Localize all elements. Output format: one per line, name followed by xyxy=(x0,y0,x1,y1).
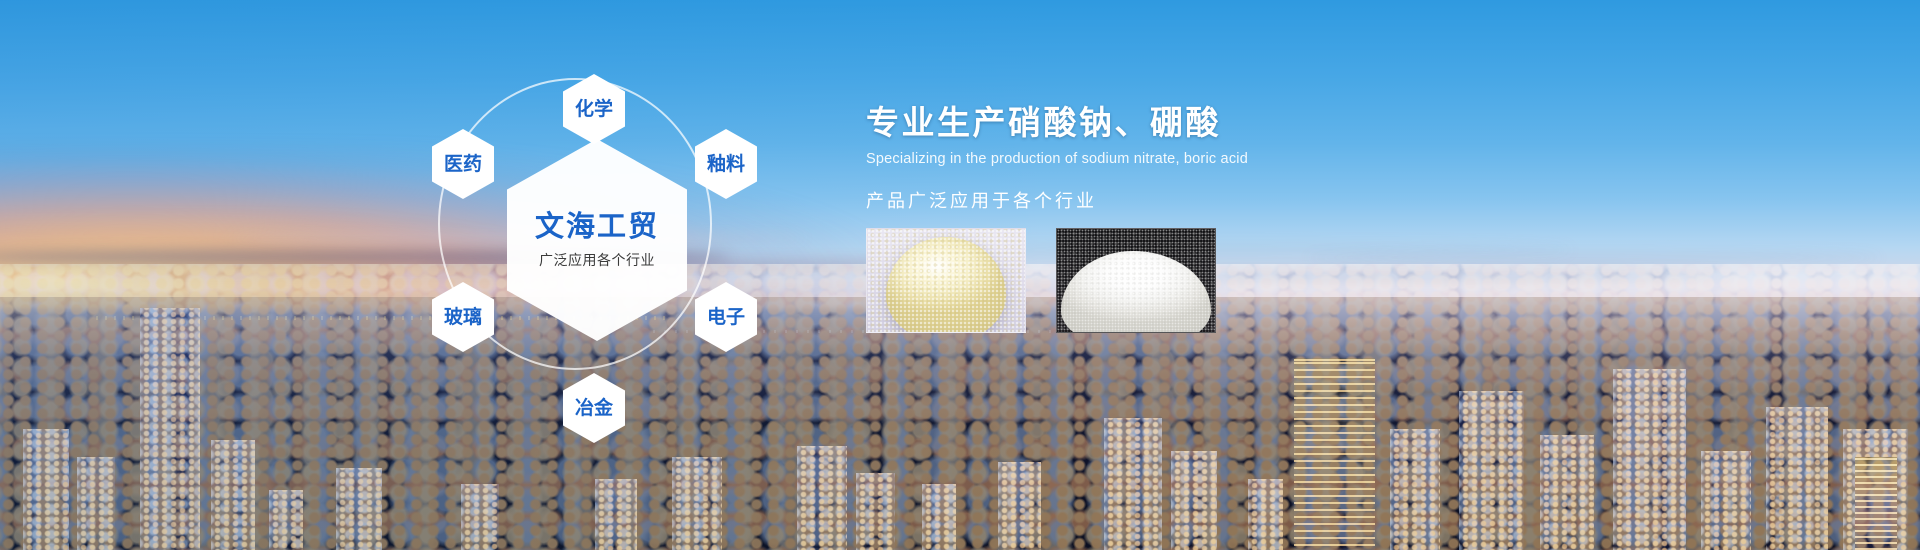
headline: 专业生产硝酸钠、硼酸 xyxy=(866,102,1566,143)
product-thumb-boric-acid[interactable] xyxy=(1056,228,1216,333)
hex-node-label: 冶金 xyxy=(575,399,613,418)
hex-node-label: 医药 xyxy=(444,155,482,174)
product-thumb-sodium-nitrate[interactable] xyxy=(866,228,1026,333)
hex-node-label: 釉料 xyxy=(707,155,745,174)
cloud-streak xyxy=(1306,253,1882,262)
promo-banner: 化学 釉料 电子 冶金 玻璃 医药 文海工贸 广泛应用各个行业 专业生产硝酸钠、… xyxy=(0,0,1920,550)
hex-node-electronics[interactable]: 电子 xyxy=(695,282,757,352)
industry-hex-diagram: 化学 釉料 电子 冶金 玻璃 医药 文海工贸 广泛应用各个行业 xyxy=(432,36,762,426)
powder-grain-texture xyxy=(1057,229,1215,332)
tagline: 产品广泛应用于各个行业 xyxy=(866,190,1566,213)
hex-node-label: 电子 xyxy=(707,308,745,327)
hex-node-label: 玻璃 xyxy=(444,308,482,327)
subheadline-english: Specializing in the production of sodium… xyxy=(866,150,1566,169)
copy-block: 专业生产硝酸钠、硼酸 Specializing in the productio… xyxy=(866,102,1566,213)
company-tagline: 广泛应用各个行业 xyxy=(539,253,655,268)
powder-grain-texture xyxy=(867,229,1025,332)
company-name: 文海工贸 xyxy=(535,212,659,244)
hex-node-label: 化学 xyxy=(575,100,613,119)
product-thumbnails xyxy=(866,228,1216,333)
